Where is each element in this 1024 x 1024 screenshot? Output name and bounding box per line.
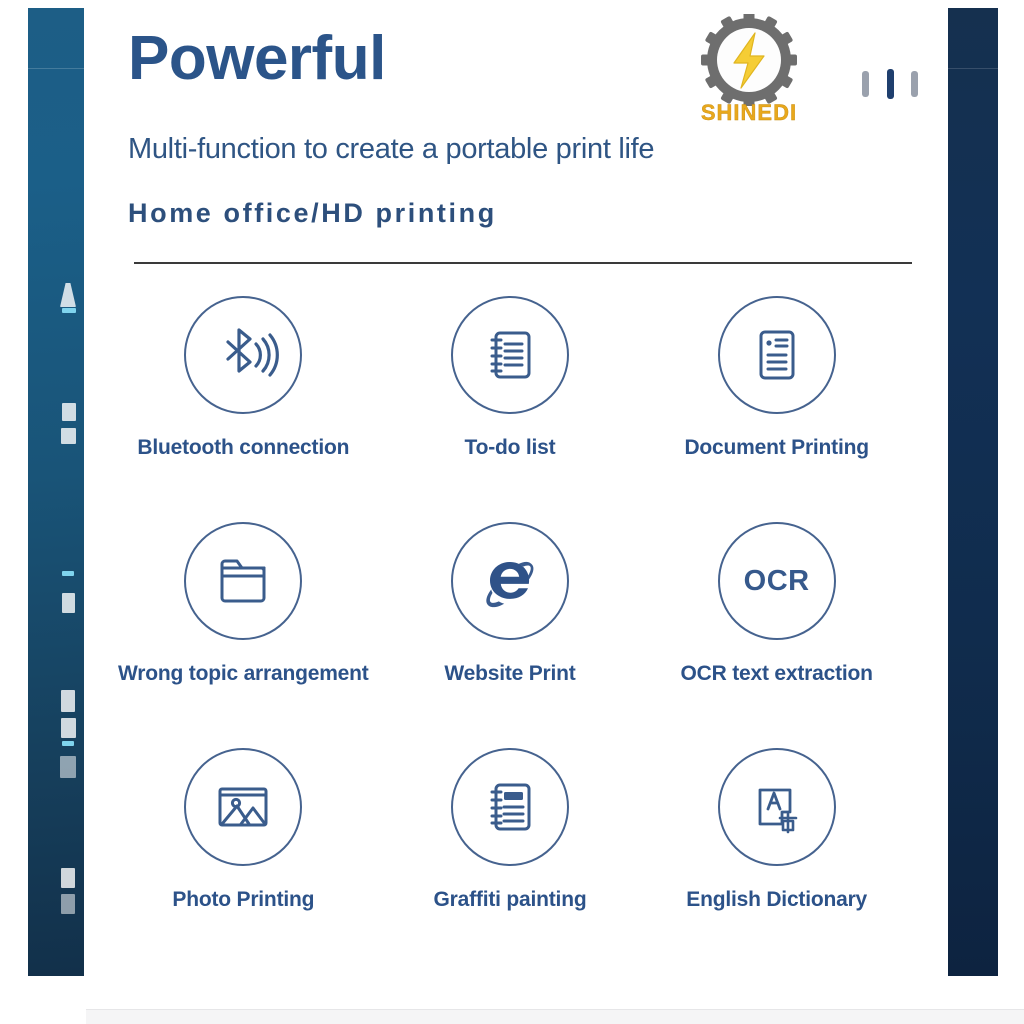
- feature-icon-circle[interactable]: [184, 296, 302, 414]
- brand-logo: SHINEDI: [694, 14, 804, 130]
- feature-icon-circle[interactable]: [451, 748, 569, 866]
- feature-icon-circle[interactable]: [718, 296, 836, 414]
- translate-a-zhong-icon: [746, 776, 808, 838]
- feature-graffiti-painting[interactable]: Graffiti painting: [377, 748, 644, 974]
- strip-right-seam: [940, 68, 998, 69]
- feature-label: OCR text extraction: [681, 662, 873, 686]
- feature-icon-circle[interactable]: [184, 522, 302, 640]
- feature-label: English Dictionary: [686, 888, 867, 912]
- feature-ocr-text-extraction[interactable]: OCR OCR text extraction: [643, 522, 910, 748]
- notebook-list-icon: [479, 324, 541, 386]
- feature-icon-circle[interactable]: [718, 748, 836, 866]
- feature-photo-printing[interactable]: Photo Printing: [110, 748, 377, 974]
- feature-website-print[interactable]: Website Print: [377, 522, 644, 748]
- page-root: Powerful Multi-function to create a port…: [0, 0, 1024, 1024]
- brand-name: SHINEDI: [694, 100, 804, 126]
- feature-icon-circle[interactable]: [451, 296, 569, 414]
- feature-document-printing[interactable]: Document Printing: [643, 296, 910, 522]
- feature-label: Photo Printing: [172, 888, 314, 912]
- indicator-bar-1[interactable]: [862, 71, 869, 97]
- gear-lightning-icon: [694, 14, 804, 106]
- background-strip-right: [940, 8, 998, 976]
- feature-label: Website Print: [444, 662, 575, 686]
- indicator-bar-2-active[interactable]: [887, 69, 894, 99]
- card-upper-right-fill: [862, 0, 876, 240]
- section-title: Home office/HD printing: [128, 198, 497, 229]
- feature-to-do-list[interactable]: To-do list: [377, 296, 644, 522]
- feature-label: Document Printing: [684, 436, 868, 460]
- feature-grid: Bluetooth connection To-do list: [110, 296, 910, 974]
- feature-bluetooth-connection[interactable]: Bluetooth connection: [110, 296, 377, 522]
- feature-label: Wrong topic arrangement: [118, 662, 369, 686]
- page-subtitle: Multi-function to create a portable prin…: [128, 133, 654, 166]
- internet-explorer-icon: [477, 550, 543, 612]
- folder-icon: [212, 552, 274, 610]
- document-icon: [747, 325, 807, 385]
- page-bottom-edge: [86, 1009, 1024, 1024]
- image-photo-icon: [211, 779, 275, 835]
- feature-wrong-topic-arrangement[interactable]: Wrong topic arrangement: [110, 522, 377, 748]
- feature-icon-circle[interactable]: OCR: [718, 522, 836, 640]
- page-title: Powerful: [128, 28, 386, 90]
- feature-label: To-do list: [465, 436, 556, 460]
- section-divider: [134, 262, 912, 264]
- feature-english-dictionary[interactable]: English Dictionary: [643, 748, 910, 974]
- ocr-text-icon: OCR: [744, 565, 810, 598]
- bluetooth-icon: [206, 318, 280, 392]
- feature-icon-circle[interactable]: [451, 522, 569, 640]
- feature-label: Bluetooth connection: [137, 436, 349, 460]
- feature-label: Graffiti painting: [434, 888, 587, 912]
- background-strip-left: [28, 8, 84, 976]
- strip-left-seam: [28, 68, 84, 69]
- indicator-bar-3[interactable]: [911, 71, 918, 97]
- feature-icon-circle[interactable]: [184, 748, 302, 866]
- notebook-graffiti-icon: [479, 776, 541, 838]
- page-indicator[interactable]: [862, 66, 918, 102]
